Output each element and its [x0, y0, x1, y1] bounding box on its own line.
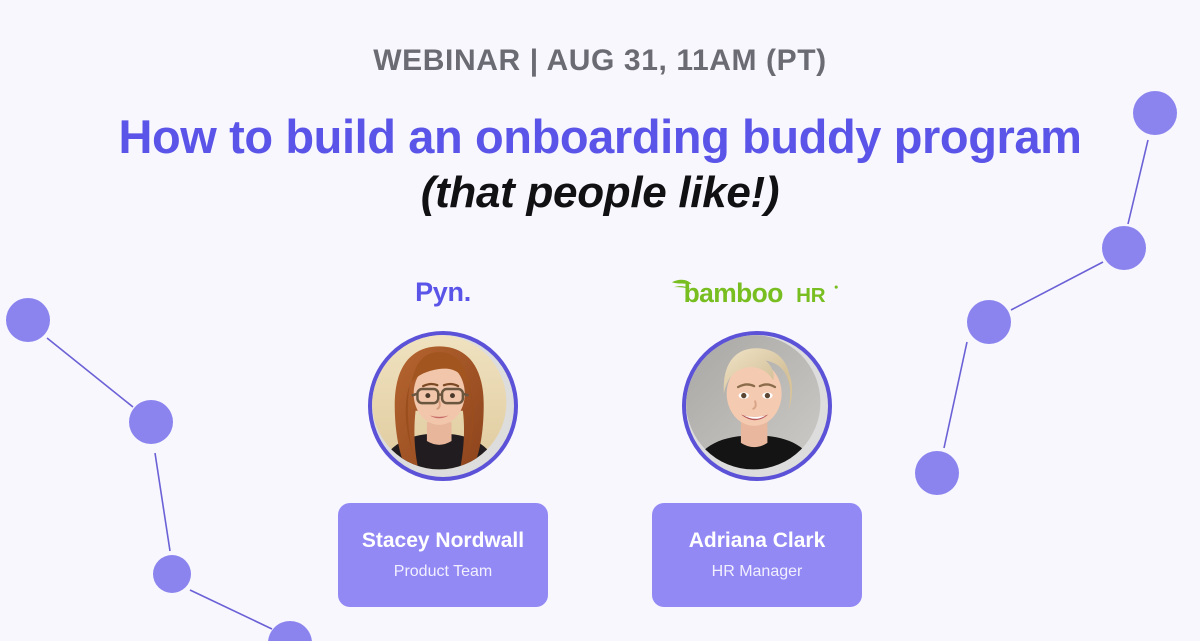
webinar-eyebrow: WEBINAR | AUG 31, 11AM (PT)	[0, 44, 1200, 78]
webinar-promo-graphic: WEBINAR | AUG 31, 11AM (PT) How to build…	[0, 0, 1200, 641]
svg-text:bamboo: bamboo	[684, 278, 784, 308]
speaker-role: Product Team	[394, 564, 492, 580]
avatar-photo-adriana	[682, 331, 832, 481]
namecard-1: Stacey Nordwall Product Team	[338, 503, 548, 607]
page-title: How to build an onboarding buddy program	[0, 110, 1200, 164]
page-subtitle: (that people like!)	[0, 168, 1200, 219]
title-block: How to build an onboarding buddy program…	[0, 110, 1200, 218]
speaker-name: Adriana Clark	[689, 530, 826, 551]
svg-text:HR: HR	[796, 284, 826, 307]
avatar-photo-stacey	[368, 331, 518, 481]
speaker-card-2: bamboo HR	[652, 272, 862, 607]
speaker-name: Stacey Nordwall	[362, 530, 524, 551]
pyn-logo-text: Pyn.	[415, 277, 471, 308]
speaker-card-1: Pyn.	[338, 272, 548, 607]
bamboohr-logo: bamboo HR	[668, 272, 846, 312]
namecard-2: Adriana Clark HR Manager	[652, 503, 862, 607]
pyn-wordmark: Pyn.	[415, 272, 471, 312]
speakers-row: Pyn.	[0, 272, 1200, 607]
speaker-role: HR Manager	[712, 564, 803, 580]
